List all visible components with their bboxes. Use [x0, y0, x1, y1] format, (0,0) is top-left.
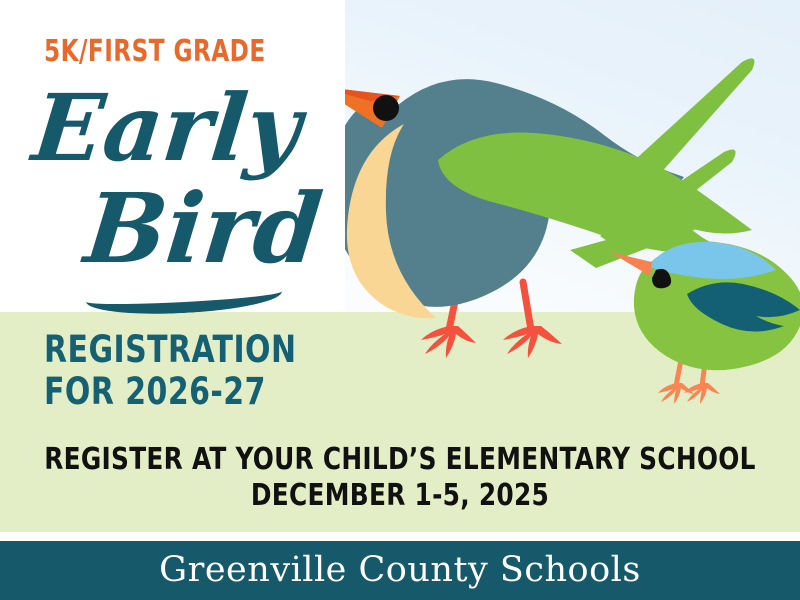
cta-line-2: DECEMBER 1-5, 2025: [32, 478, 768, 513]
footer-gap: [0, 532, 800, 541]
kicker-text: 5K/FIRST GRADE: [44, 34, 266, 69]
small-bird-beak: [610, 252, 652, 276]
small-bird-feet: [658, 383, 720, 404]
registration-line-1: REGISTRATION: [44, 328, 296, 371]
early-bird-registration-poster: 5K/FIRST GRADE Early Bird REGISTRATION F…: [0, 0, 800, 600]
large-bird-eye: [373, 95, 399, 121]
registration-line-2: FOR 2026-27: [44, 370, 266, 413]
footer-organization-name: Greenville County Schools: [0, 541, 800, 600]
script-line-bird: Bird: [80, 172, 327, 285]
cta-line-1: REGISTER AT YOUR CHILD’S ELEMENTARY SCHO…: [32, 442, 768, 477]
large-bird-feet: [421, 326, 562, 358]
script-headline: Early Bird: [0, 74, 345, 306]
small-bird-group: [610, 241, 800, 404]
script-line-early: Early: [28, 74, 306, 182]
